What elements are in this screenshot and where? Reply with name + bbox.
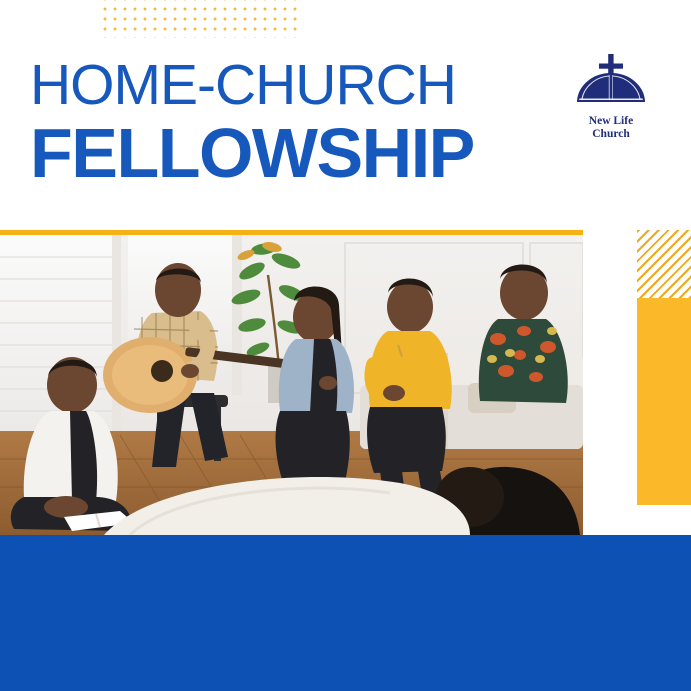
page-title: HOME-CHURCH FELLOWSHIP [30,56,474,188]
logo-text-line-one: New Life [589,115,633,127]
event-details-bar: THURSDAY, 16th May 4:30PM to 6:00PM BRIC… [0,535,691,691]
fellowship-photo [0,235,583,535]
cross-dome-icon [572,52,650,114]
church-logo: New Life Church [572,52,650,147]
diagonal-stripe-decoration [637,230,691,298]
dot-grid-decoration [98,0,299,38]
yellow-block-decoration [637,298,691,505]
photo-illustration [0,235,583,535]
title-line-one: HOME-CHURCH [30,56,474,114]
poster-canvas: HOME-CHURCH FELLOWSHIP New Life Church [0,0,691,691]
title-line-two: FELLOWSHIP [30,118,474,188]
logo-text: New Life Church [572,115,650,140]
logo-text-line-two: Church [592,128,630,140]
